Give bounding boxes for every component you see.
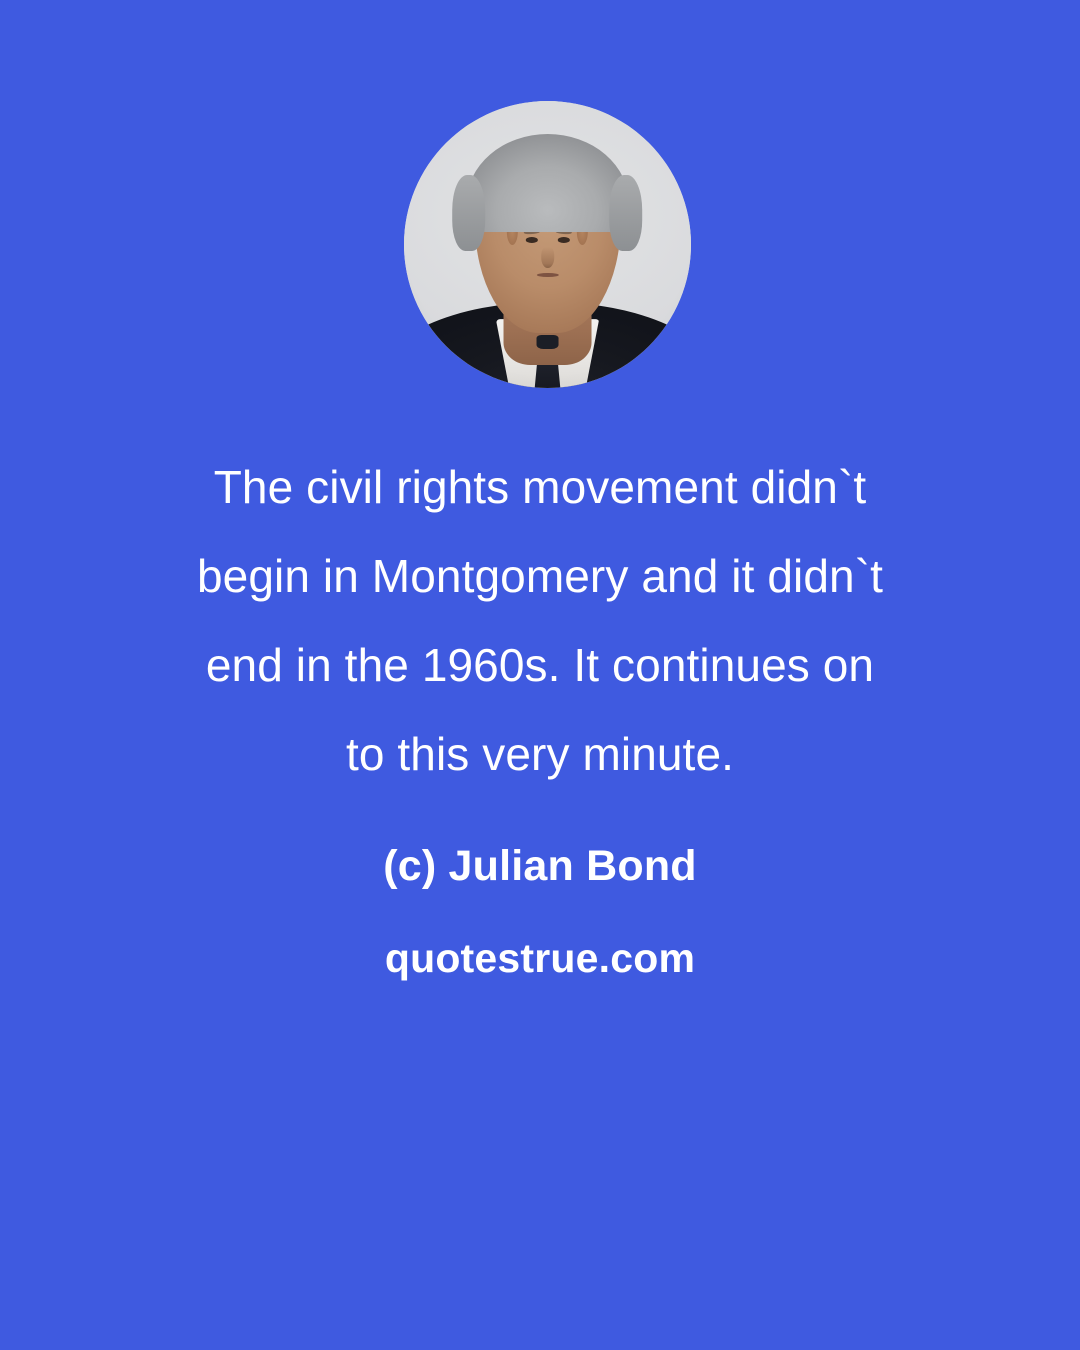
portrait-nose — [541, 247, 554, 268]
quote-text: The civil rights movement didn`t begin i… — [0, 443, 1080, 799]
portrait-tie-knot — [536, 335, 559, 349]
portrait-circle-clip — [404, 101, 691, 388]
quote-line: to this very minute. — [72, 710, 1008, 799]
portrait-eye-right — [557, 237, 569, 243]
author-credit: (c) Julian Bond — [0, 838, 1080, 894]
author-portrait — [404, 101, 691, 388]
quote-line: The civil rights movement didn`t — [72, 443, 1008, 532]
quote-line: begin in Montgomery and it didn`t — [72, 532, 1008, 621]
portrait-eye-left — [526, 237, 538, 243]
website-label: quotestrue.com — [0, 930, 1080, 986]
quote-line: end in the 1960s. It continues on — [72, 621, 1008, 710]
quote-card: The civil rights movement didn`t begin i… — [0, 0, 1080, 1350]
portrait-mouth — [537, 273, 559, 277]
